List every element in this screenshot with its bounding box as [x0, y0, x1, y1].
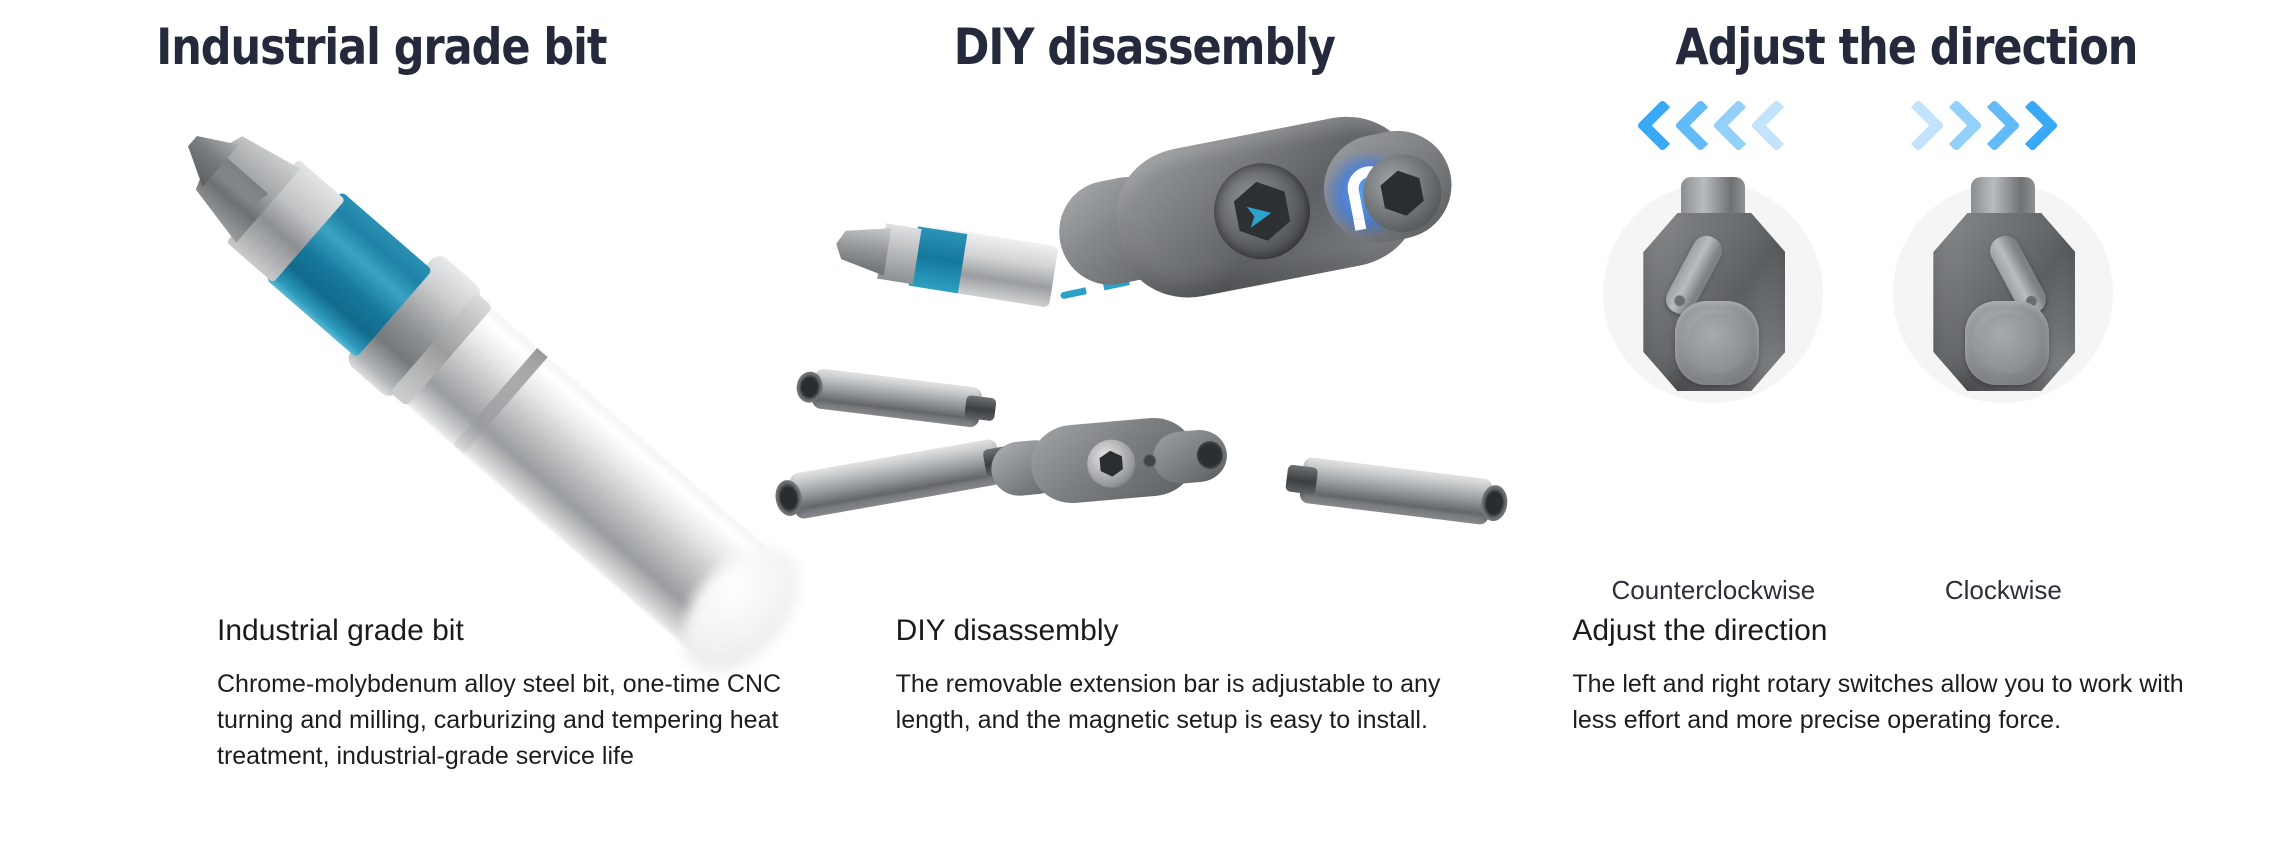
caption-title: Adjust the direction: [1572, 612, 2192, 650]
rotary-switches: Counterclockwise Clockwise: [1525, 183, 2288, 483]
ratchet-head-graphic: ➤: [1043, 82, 1462, 343]
switch-knob[interactable]: [1965, 301, 2049, 385]
chevron-indicators: [1525, 95, 2288, 185]
extension-bar: [788, 438, 1003, 520]
feature-column-adjust-direction: Adjust the direction: [1525, 0, 2288, 856]
caption-body: The removable extension bar is adjustabl…: [896, 666, 1496, 738]
column-headline: Adjust the direction: [1579, 18, 2235, 76]
chevron-right-icon: [1893, 101, 1927, 153]
chevron-left-icon: [1675, 101, 1709, 153]
rotary-switch-counterclockwise[interactable]: [1603, 183, 1823, 403]
direction-illustration: Counterclockwise Clockwise: [1525, 95, 2288, 595]
caption-block: Industrial grade bit Chrome-molybdenum a…: [217, 612, 817, 774]
bit-illustration: [0, 95, 763, 595]
extension-bars-group: [763, 370, 1526, 570]
diy-illustration: ➤: [763, 95, 1526, 595]
insert-arrow-icon: ➤: [1241, 196, 1275, 235]
caption-body: Chrome-molybdenum alloy steel bit, one-t…: [217, 666, 817, 774]
chevron-right-icon: [1969, 101, 2003, 153]
caption-block: Adjust the direction The left and right …: [1572, 612, 2192, 738]
chevron-right-icon: [2007, 101, 2041, 153]
chevron-group-right: [1893, 101, 2041, 153]
feature-column-industrial-bit: Industrial grade bit Industrial grade bi…: [0, 0, 763, 856]
extension-bar: [811, 368, 983, 428]
chevron-group-left: [1637, 101, 1785, 153]
caption-title: Industrial grade bit: [217, 612, 817, 650]
switch-label-counterclockwise: Counterclockwise: [1603, 575, 1823, 606]
switch-knob[interactable]: [1675, 301, 1759, 385]
chevron-left-icon: [1751, 101, 1785, 153]
extension-bar: [1299, 457, 1493, 526]
caption-block: DIY disassembly The removable extension …: [896, 612, 1496, 738]
feature-columns: Industrial grade bit Industrial grade bi…: [0, 0, 2288, 856]
diy-graphic: ➤: [763, 95, 1526, 595]
chevron-left-icon: [1637, 101, 1671, 153]
rotary-switch-clockwise[interactable]: [1893, 183, 2113, 403]
chevron-left-icon: [1713, 101, 1747, 153]
detached-bit-tip: [832, 220, 891, 276]
switch-label-clockwise: Clockwise: [1893, 575, 2113, 606]
caption-title: DIY disassembly: [896, 612, 1496, 650]
column-headline: DIY disassembly: [816, 18, 1472, 76]
detached-bit-graphic: [830, 206, 1059, 314]
feature-column-diy-disassembly: DIY disassembly ➤: [763, 0, 1526, 856]
t-handle-body: [987, 402, 1227, 520]
caption-body: The left and right rotary switches allow…: [1572, 666, 2192, 738]
chevron-right-icon: [1931, 101, 1965, 153]
